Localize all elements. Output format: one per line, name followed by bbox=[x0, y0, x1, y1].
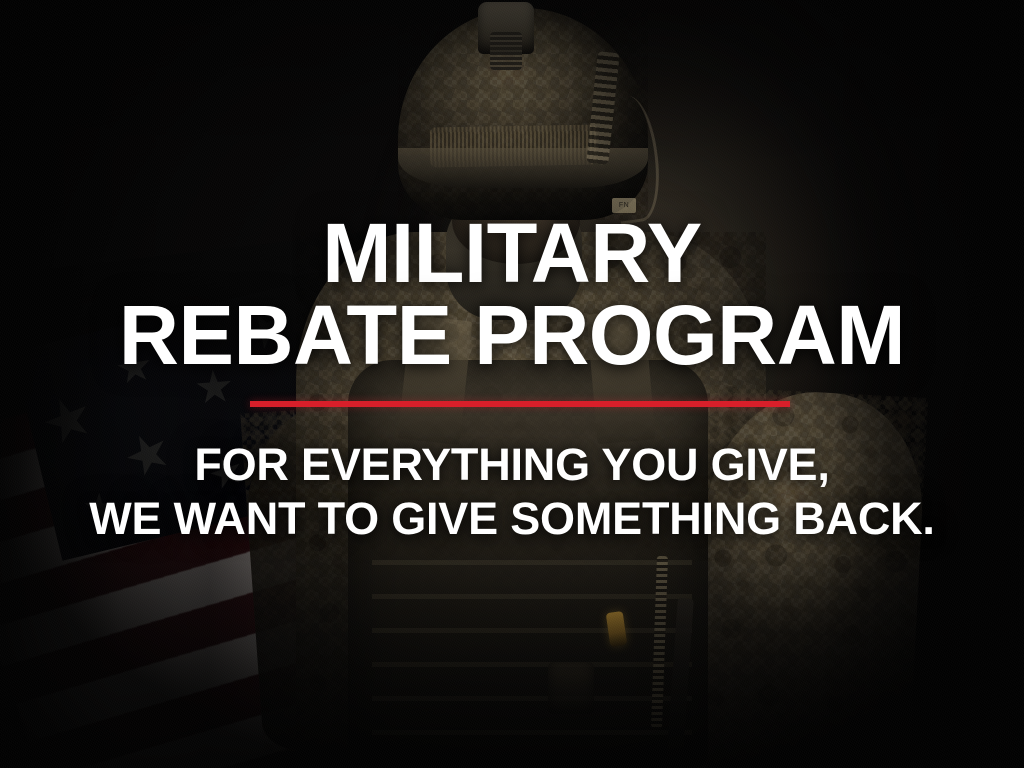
background-photo: FN bbox=[0, 0, 1024, 768]
photo-color-grade-vignette bbox=[0, 0, 1024, 768]
military-rebate-banner: FN MILITARY REBATE PROGRAM FOR EVERYTHIN… bbox=[0, 0, 1024, 768]
